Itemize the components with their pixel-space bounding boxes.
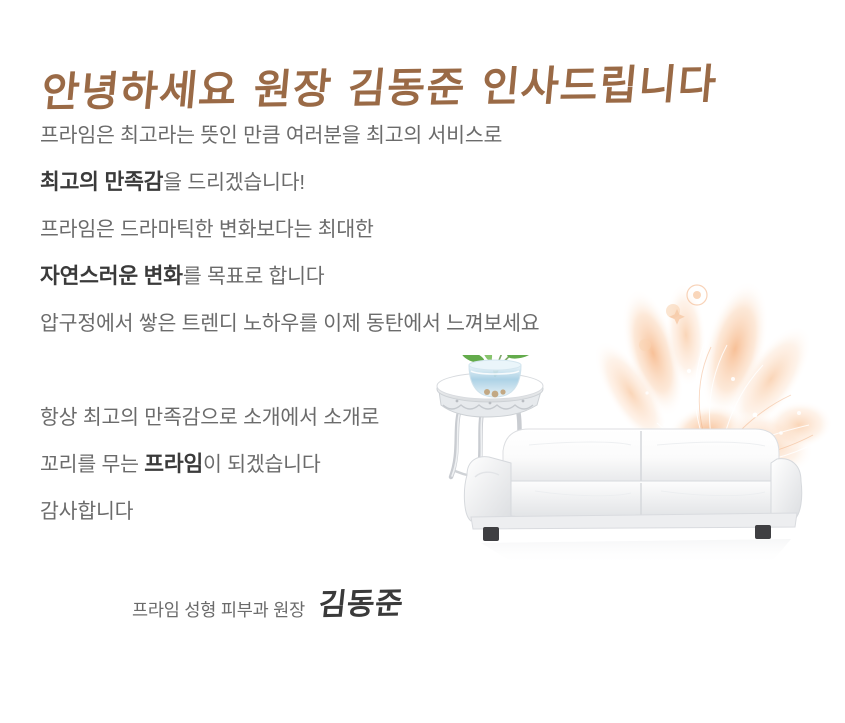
signature-name: 김동준 xyxy=(317,578,406,623)
greeting-body: 프라임은 최고라는 뜻인 만큼 여러분을 최고의 서비스로 최고의 만족감을 드… xyxy=(40,112,740,535)
body-line-3-text: 프라임은 드라마틱한 변화보다는 최대한 xyxy=(40,218,374,241)
body-line-4-rest: 를 목표로 합니다 xyxy=(183,265,325,288)
body-line-1-text: 프라임은 최고라는 뜻인 만큼 여러분을 최고의 서비스로 xyxy=(40,124,502,147)
body-line-2: 최고의 만족감을 드리겠습니다! xyxy=(40,159,740,206)
body-line-6: 항상 최고의 만족감으로 소개에서 소개로 xyxy=(40,394,740,441)
body-line-2-emphasis: 최고의 만족감 xyxy=(40,170,163,194)
body-line-7: 꼬리를 무는 프라임이 되겠습니다 xyxy=(40,441,740,488)
body-line-5-text: 압구정에서 쌓은 트렌디 노하우를 이제 동탄에서 느껴보세요 xyxy=(40,312,539,335)
greeting-page: 안녕하세요 원장 김동준 인사드립니다 프라임은 최고라는 뜻인 만큼 여러분을… xyxy=(0,0,845,723)
body-line-7-emphasis: 프라임 xyxy=(144,452,203,476)
signature-title-label: 프라임 성형 피부과 원장 xyxy=(132,597,305,622)
body-line-4-emphasis: 자연스러운 변화 xyxy=(40,264,183,288)
body-line-7-before: 꼬리를 무는 xyxy=(40,453,144,476)
body-line-8: 감사합니다 xyxy=(40,488,740,535)
signature-block: 프라임 성형 피부과 원장 김동준 xyxy=(132,581,403,625)
body-line-4: 자연스러운 변화를 목표로 합니다 xyxy=(40,253,740,300)
body-line-7-rest: 이 되겠습니다 xyxy=(203,453,320,476)
body-line-3: 프라임은 드라마틱한 변화보다는 최대한 xyxy=(40,206,740,253)
body-line-gap xyxy=(40,347,740,394)
body-line-6-text: 항상 최고의 만족감으로 소개에서 소개로 xyxy=(40,406,379,429)
body-line-1: 프라임은 최고라는 뜻인 만큼 여러분을 최고의 서비스로 xyxy=(40,112,740,159)
body-line-2-rest: 을 드리겠습니다! xyxy=(163,171,305,194)
body-line-5: 압구정에서 쌓은 트렌디 노하우를 이제 동탄에서 느껴보세요 xyxy=(40,300,740,347)
page-title: 안녕하세요 원장 김동준 인사드립니다 xyxy=(39,59,745,119)
body-line-8-text: 감사합니다 xyxy=(40,500,133,523)
